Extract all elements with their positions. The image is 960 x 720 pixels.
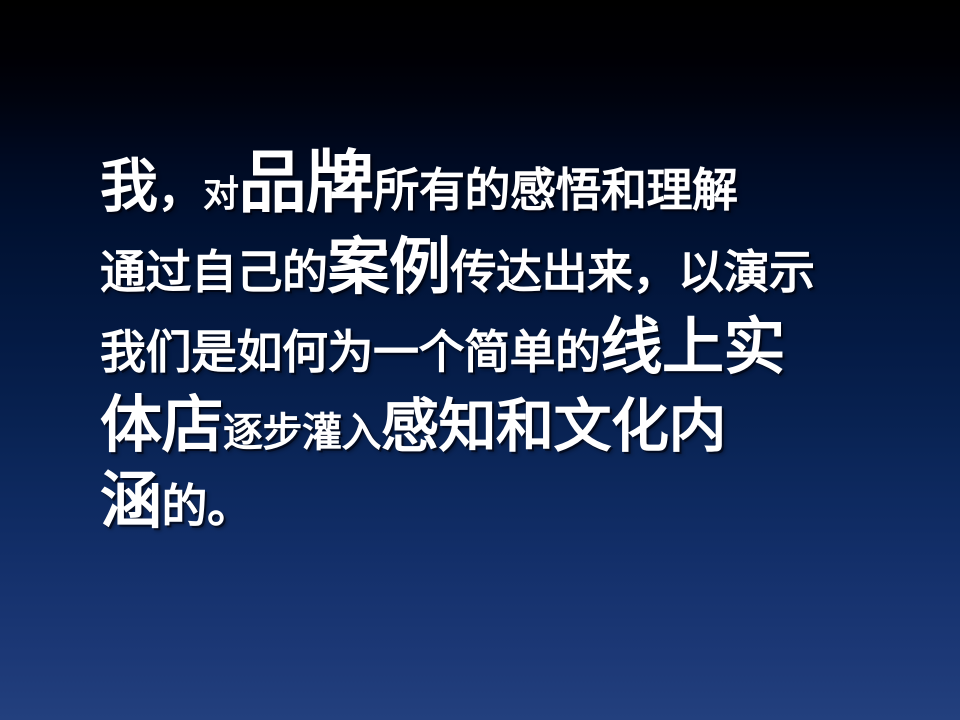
text-run: 我们是如何为一个简单的 — [100, 329, 601, 375]
text-line-3: 我们是如何为一个简单的 线上实 — [100, 316, 920, 394]
text-run: 逐步灌入 — [223, 413, 381, 453]
slide-canvas: 我 ， 对 品牌 所有的感悟和理解 通过自己的 案例 传达出来，以演示 我们是如… — [0, 0, 960, 720]
text-run-emphasis: 线上实 — [601, 316, 786, 378]
text-run-emphasis: 感知和文化内 — [381, 397, 726, 455]
text-line-2: 通过自己的 案例 传达出来，以演示 — [100, 236, 920, 316]
text-run-emphasis: 体店 — [100, 394, 223, 456]
text-run-emphasis: 涵 — [100, 470, 162, 532]
text-run: 通过自己的 — [100, 249, 328, 295]
text-run: ， — [158, 167, 204, 213]
text-run-emphasis: 品牌 — [239, 150, 374, 218]
text-line-4: 体店 逐步灌入 感知和文化内 — [100, 394, 920, 470]
slide-body-text: 我 ， 对 品牌 所有的感悟和理解 通过自己的 案例 传达出来，以演示 我们是如… — [100, 150, 920, 546]
text-run-emphasis: 案例 — [328, 236, 451, 298]
text-run: 对 — [203, 177, 239, 213]
text-line-5: 涵 的。 — [100, 470, 920, 546]
text-run: 我 — [100, 157, 158, 215]
text-line-1: 我 ， 对 品牌 所有的感悟和理解 — [100, 150, 920, 236]
text-run: 的。 — [162, 483, 253, 529]
text-run: 所有的感悟和理解 — [374, 167, 738, 213]
text-run: 传达出来，以演示 — [451, 249, 815, 295]
